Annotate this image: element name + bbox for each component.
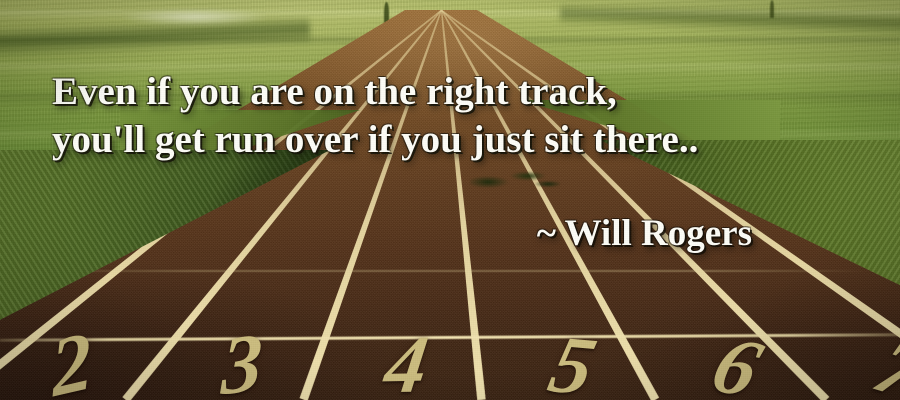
track-transverse-line bbox=[30, 270, 870, 272]
shrub-silhouette bbox=[470, 168, 560, 194]
quote-line-1: Even if you are on the right track, bbox=[52, 68, 792, 116]
quote-block: Even if you are on the right track, you'… bbox=[52, 68, 792, 165]
pale-field-patch bbox=[120, 8, 270, 26]
lane-number: 2 bbox=[49, 319, 94, 400]
motivational-quote-poster: 234567 Even if you are on the right trac… bbox=[0, 0, 900, 400]
tree-icon-secondary bbox=[770, 0, 774, 18]
quote-line-2: you'll get run over if you just sit ther… bbox=[52, 116, 792, 164]
attribution-author: ~ Will Rogers bbox=[537, 212, 752, 255]
lane-number: 3 bbox=[220, 321, 263, 400]
